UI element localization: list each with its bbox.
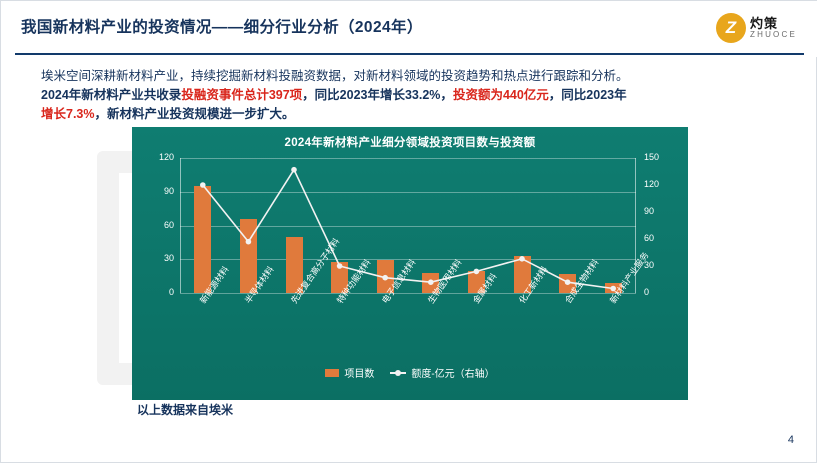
chart-plot-area: 03060901200306090120150新能源材料半导体材料先进复合高分子… xyxy=(180,158,636,293)
intro-highlight-events: 投融资事件总计397项 xyxy=(181,88,302,102)
chart-panel: 2024年新材料产业细分领域投资项目数与投资额 0306090120030609… xyxy=(132,127,688,400)
page-number: 4 xyxy=(788,434,794,446)
intro-paragraph: 埃米空间深耕新材料产业，持续挖掘新材料投融资数据，对新材料领域的投资趋势和热点进… xyxy=(41,67,781,124)
chart-title: 2024年新材料产业细分领域投资项目数与投资额 xyxy=(132,134,688,150)
intro-line-3b: ，新材料产业投资规模进一步扩大。 xyxy=(95,107,295,121)
intro-line-2a: 2024年新材料产业共收录 xyxy=(41,88,181,102)
logo-mark-icon: Z xyxy=(716,13,746,43)
logo-name-en: ZHUOCE xyxy=(750,30,797,39)
y-axis-left-tick: 120 xyxy=(140,152,174,162)
intro-line-2c: ，同比2023年 xyxy=(549,88,627,102)
legend-label-bars: 项目数 xyxy=(344,369,374,380)
chart-canvas: 03060901200306090120150新能源材料半导体材料先进复合高分子… xyxy=(180,158,636,293)
y-axis-left-tick: 30 xyxy=(140,253,174,263)
intro-line-1: 埃米空间深耕新材料产业，持续挖掘新材料投融资数据，对新材料领域的投资趋势和热点进… xyxy=(41,69,629,83)
y-axis-left-tick: 90 xyxy=(140,186,174,196)
y-axis-right-tick: 120 xyxy=(644,179,678,189)
intro-highlight-amount: 投资额为440亿元 xyxy=(453,88,549,102)
chart-legend: 项目数额度-亿元（右轴） xyxy=(132,365,688,380)
header-divider xyxy=(15,53,804,55)
source-note: 以上数据来自埃米 xyxy=(137,401,233,418)
y-axis-left-tick: 60 xyxy=(140,220,174,230)
intro-highlight-growth: 增长7.3% xyxy=(41,107,95,121)
slide: 我国新材料产业的投资情况——细分行业分析（2024年） Z 灼策 ZHUOCE … xyxy=(0,0,817,463)
y-axis-right-tick: 150 xyxy=(644,152,678,162)
legend-swatch-bars xyxy=(325,369,339,377)
brand-logo: Z 灼策 ZHUOCE xyxy=(716,11,800,47)
legend-swatch-line xyxy=(390,372,406,374)
legend-label-line: 额度-亿元（右轴） xyxy=(411,369,494,380)
y-axis-right-tick: 60 xyxy=(644,233,678,243)
intro-line-2b: ，同比2023年增长33.2%， xyxy=(302,88,453,102)
y-axis-left-tick: 0 xyxy=(140,287,174,297)
y-axis-right-tick: 0 xyxy=(644,287,678,297)
slide-header: 我国新材料产业的投资情况——细分行业分析（2024年） Z 灼策 ZHUOCE xyxy=(1,1,817,57)
y-axis-right-tick: 90 xyxy=(644,206,678,216)
logo-mark-letter: Z xyxy=(716,13,746,43)
y-axis-right-tick: 30 xyxy=(644,260,678,270)
page-title: 我国新材料产业的投资情况——细分行业分析（2024年） xyxy=(21,15,423,37)
